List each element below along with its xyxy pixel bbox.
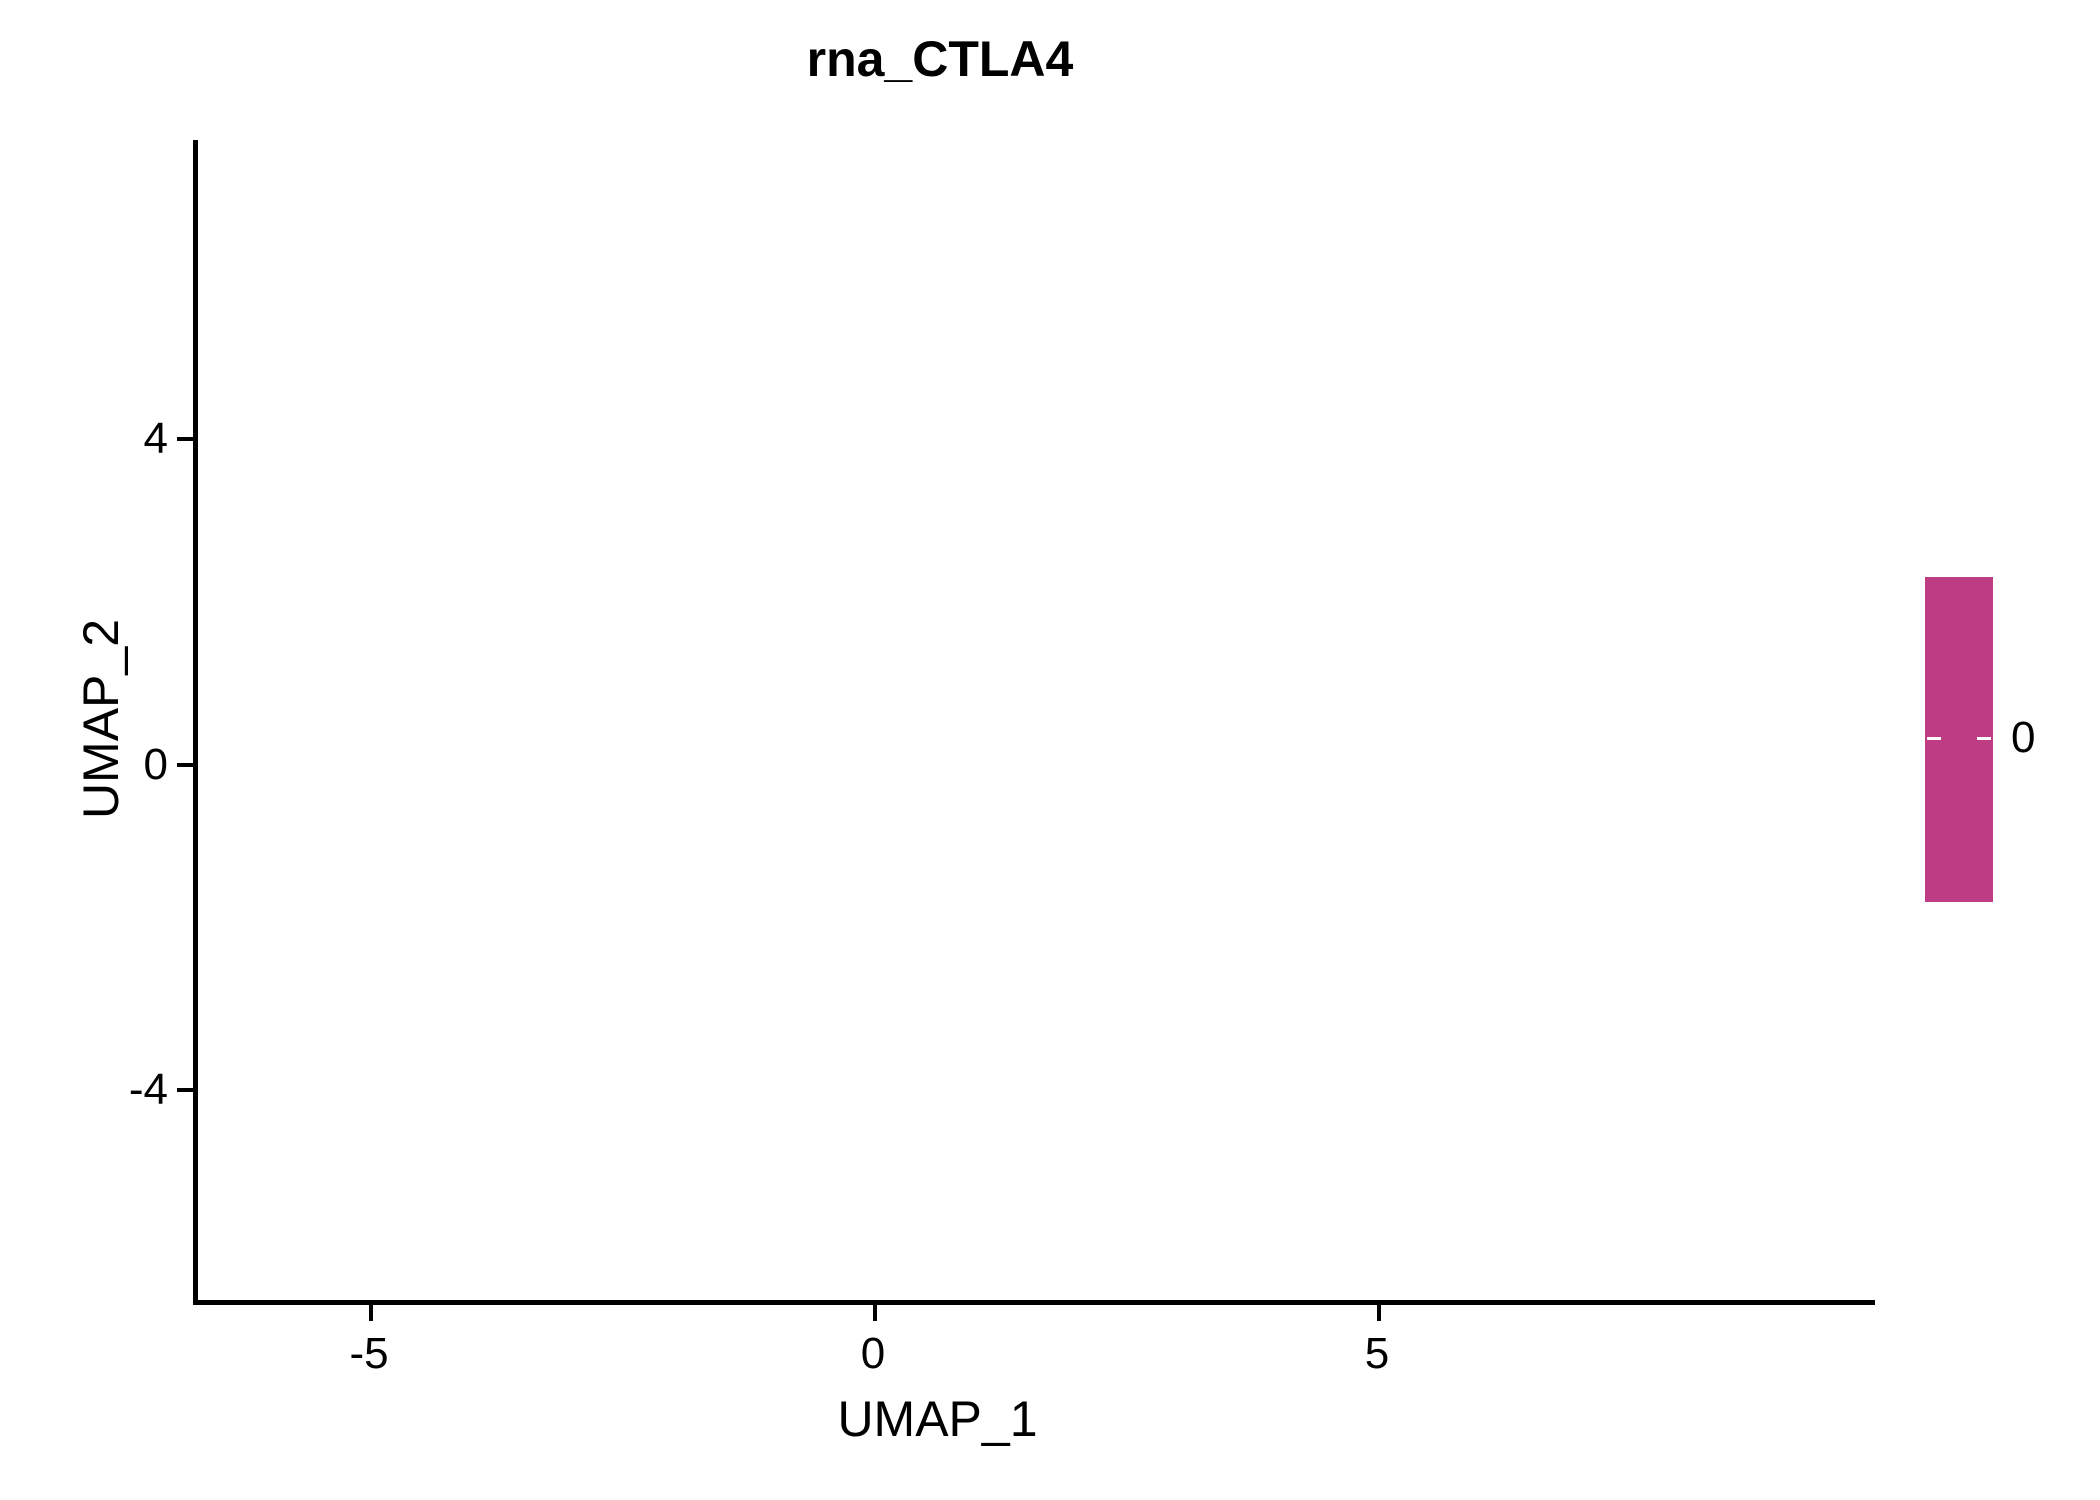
x-axis-label: UMAP_1 <box>0 1390 1875 1448</box>
x-tick-label-5: 5 <box>1317 1330 1437 1378</box>
y-tick-mark-0 <box>177 763 193 767</box>
y-tick-mark-neg4 <box>177 1088 193 1092</box>
x-tick-label-0: 0 <box>813 1330 933 1378</box>
x-tick-mark-neg5 <box>369 1305 373 1321</box>
x-tick-mark-5 <box>1377 1305 1381 1321</box>
legend-colorbar[interactable]: 0 <box>1925 577 2100 907</box>
x-tick-mark-0 <box>873 1305 877 1321</box>
y-tick-label-neg4: -4 <box>129 1068 168 1112</box>
y-tick-mark-4 <box>177 437 193 441</box>
colorbar-tick-left <box>1927 737 1941 740</box>
colorbar-tick-right <box>1977 737 1991 740</box>
umap-scatter-plot: rna_CTLA4 4 0 -4 -5 0 5 UMAP_1 UMAP_2 0 <box>0 0 2100 1500</box>
plot-panel <box>196 140 1875 1302</box>
x-tick-label-neg5: -5 <box>309 1330 429 1378</box>
y-axis-line <box>193 140 198 1305</box>
page-title: rna_CTLA4 <box>0 30 1880 88</box>
y-tick-label-4: 4 <box>144 417 168 461</box>
y-axis-label: UMAP_2 <box>72 138 130 1300</box>
y-tick-label-0: 0 <box>144 743 168 787</box>
colorbar-tick-label-0: 0 <box>2011 713 2035 763</box>
x-axis-line <box>193 1300 1875 1305</box>
